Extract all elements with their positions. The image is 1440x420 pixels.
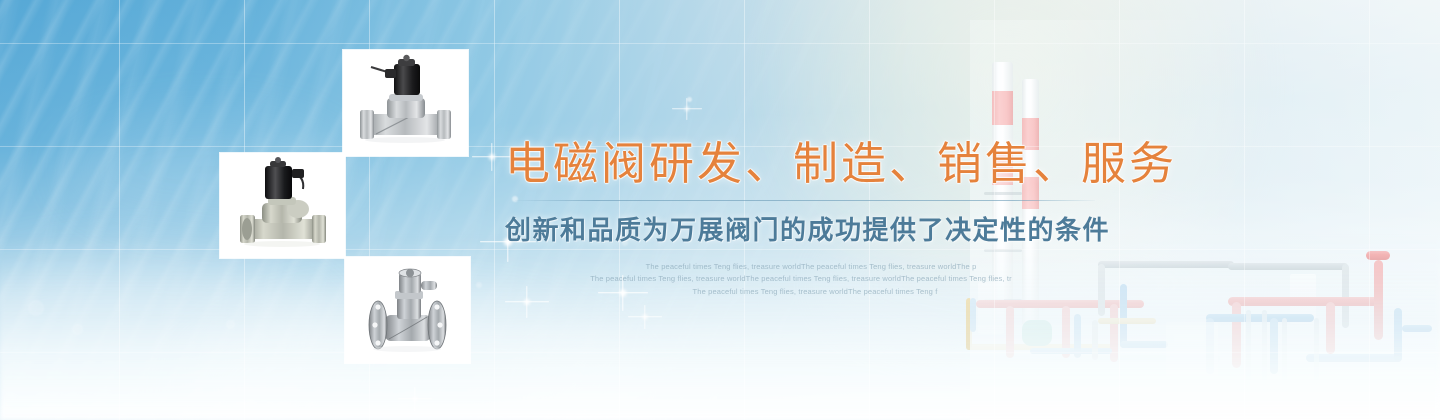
filler-line: The peaceful times Teng flies, treasure … bbox=[511, 261, 1111, 274]
product-tile-solenoid-valve-flanged[interactable] bbox=[345, 257, 470, 363]
solenoid-valve-straight-through-icon bbox=[343, 50, 468, 156]
filler-line: The peaceful times Teng flies, treasure … bbox=[501, 273, 1101, 286]
bokeh-dot bbox=[687, 97, 692, 102]
product-tile-solenoid-valve-straight-through[interactable] bbox=[343, 50, 468, 156]
promotional-banner: 电磁阀研发、制造、销售、服务 创新和品质为万展阀门的成功提供了决定性的条件 Th… bbox=[0, 0, 1440, 420]
solenoid-valve-angled-icon bbox=[220, 153, 345, 258]
banner-copy: 电磁阀研发、制造、销售、服务 创新和品质为万展阀门的成功提供了决定性的条件 Th… bbox=[505, 140, 1105, 299]
product-tile-solenoid-valve-angled[interactable] bbox=[220, 153, 345, 258]
bokeh-dot bbox=[455, 279, 464, 288]
bokeh-dot bbox=[72, 324, 83, 335]
banner-subheadline: 创新和品质为万展阀门的成功提供了决定性的条件 bbox=[505, 210, 1105, 247]
filler-line: The peaceful times Teng flies, treasure … bbox=[515, 286, 1115, 299]
bokeh-dot bbox=[226, 320, 235, 329]
bokeh-dot bbox=[476, 282, 482, 288]
solenoid-valve-flanged-icon bbox=[345, 257, 470, 363]
banner-headline: 电磁阀研发、制造、销售、服务 bbox=[505, 140, 1105, 189]
banner-filler-text: The peaceful times Teng flies, treasure … bbox=[505, 261, 1105, 300]
bokeh-dot bbox=[28, 300, 44, 316]
headline-divider bbox=[515, 200, 1095, 201]
